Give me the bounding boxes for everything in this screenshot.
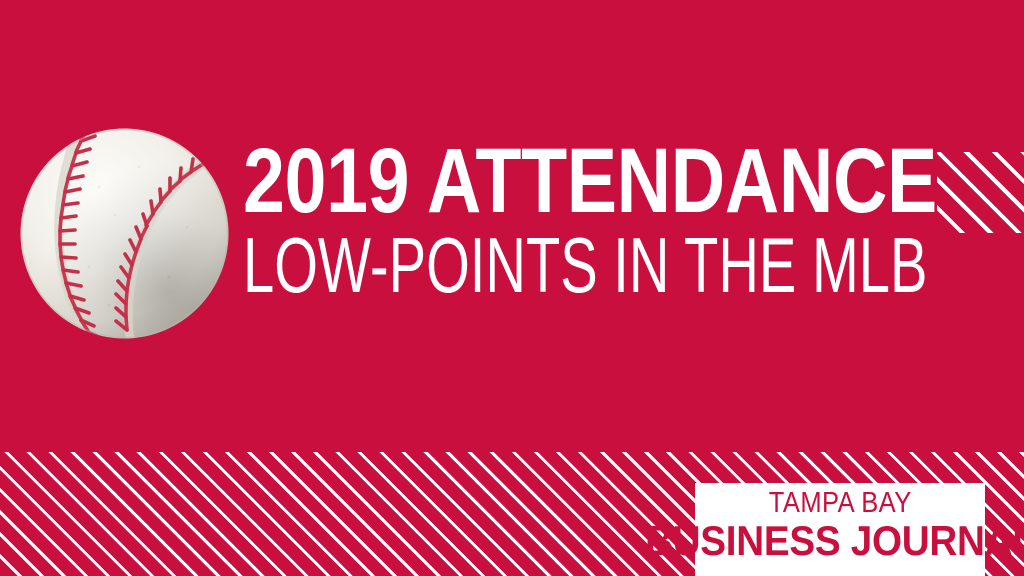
baseball-icon: [19, 127, 230, 340]
title-card-canvas: 2019 ATTENDANCE LOW-POINTS IN THE MLB TA…: [0, 0, 1024, 576]
page-subtitle: LOW-POINTS IN THE MLB: [243, 228, 747, 302]
logo-line-tampa-bay: TAMPA BAY: [769, 489, 912, 518]
diagonal-stripe-block-icon: [937, 152, 1024, 233]
logo-line-business-journal: BUSINESS JOURNAL: [645, 520, 1024, 562]
page-title: 2019 ATTENDANCE: [243, 139, 817, 224]
publisher-logo: TAMPA BAY BUSINESS JOURNAL: [695, 483, 985, 576]
title-block: 2019 ATTENDANCE LOW-POINTS IN THE MLB: [243, 139, 943, 302]
